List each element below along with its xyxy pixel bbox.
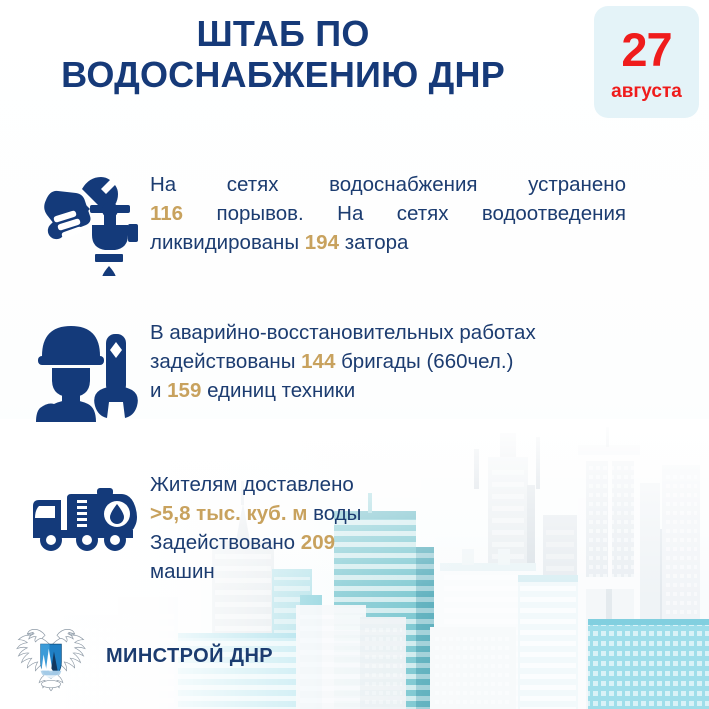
- fact-line: На сетях водоснабжения устранено: [150, 170, 626, 199]
- fact-text: Жителям доставлено >5,8 тыс. куб. м воды…: [150, 456, 510, 586]
- fact-line-text: затора: [345, 231, 409, 254]
- poster-header: ШТАБ ПО ВОДОСНАБЖЕНИЮ ДНР 27 августа: [0, 0, 709, 135]
- title-line-1: ШТАБ ПО: [0, 14, 566, 55]
- fact-line: и 159 единиц техники: [150, 376, 634, 405]
- fact-number: >5,8 тыс. куб. м: [150, 502, 307, 525]
- fact-icon-wrapper: [22, 308, 150, 422]
- page-title: ШТАБ ПО ВОДОСНАБЖЕНИЮ ДНР: [0, 14, 572, 95]
- fact-line-text: воды: [313, 502, 361, 525]
- fact-row: На сетях водоснабжения устранено 116 пор…: [0, 160, 709, 308]
- fact-line-text: порывов. На сетях водоотведения: [216, 202, 626, 225]
- fact-text: На сетях водоснабжения устранено 116 пор…: [150, 160, 642, 257]
- date-badge: 27 августа: [594, 6, 699, 118]
- facts-list: На сетях водоснабжения устранено 116 пор…: [0, 160, 709, 606]
- fact-row: Жителям доставлено >5,8 тыс. куб. м воды…: [0, 456, 709, 606]
- infographic-poster: ШТАБ ПО ВОДОСНАБЖЕНИЮ ДНР 27 августа: [0, 0, 709, 709]
- fact-text: В аварийно-восстановительных работах зад…: [150, 308, 650, 405]
- hand-wrench-faucet-icon: [32, 166, 140, 276]
- fact-line: ликвидированы 194 затора: [150, 228, 626, 257]
- fact-number: 116: [150, 202, 183, 225]
- title-line-2: ВОДОСНАБЖЕНИЮ ДНР: [0, 55, 566, 96]
- fact-line-text: ликвидированы: [150, 231, 299, 254]
- fact-line: >5,8 тыс. куб. м воды: [150, 499, 494, 528]
- fact-line: В аварийно-восстановительных работах: [150, 318, 634, 347]
- dnr-double-headed-eagle-emblem: [14, 619, 88, 693]
- fact-line-text: и: [150, 379, 161, 402]
- fact-line: Жителям доставлено: [150, 470, 494, 499]
- fact-number: 159: [167, 379, 201, 402]
- fact-number: 209: [301, 531, 335, 554]
- fact-number: 144: [301, 350, 335, 373]
- fact-line: 116 порывов. На сетях водоотведения: [150, 199, 626, 228]
- worker-wrench-icon: [34, 316, 138, 422]
- fact-icon-wrapper: [22, 160, 150, 276]
- ministry-name: МИНСТРОЙ ДНР: [106, 645, 273, 668]
- fact-line-text: бригады (660чел.): [341, 350, 513, 373]
- water-tanker-truck-icon: [31, 482, 141, 554]
- fact-line-text: единиц техники: [207, 379, 355, 402]
- fact-line: задействованы 144 бригады (660чел.): [150, 347, 634, 376]
- date-day: 27: [621, 26, 671, 73]
- fact-line: Задействовано 209: [150, 528, 494, 557]
- fact-line-text: Задействовано: [150, 531, 295, 554]
- fact-row: В аварийно-восстановительных работах зад…: [0, 308, 709, 456]
- fact-number: 194: [305, 231, 339, 254]
- date-month: августа: [611, 82, 682, 101]
- fact-line-text: задействованы: [150, 350, 295, 373]
- fact-line: машин: [150, 557, 494, 586]
- footer: МИНСТРОЙ ДНР: [14, 619, 273, 693]
- fact-icon-wrapper: [22, 456, 150, 554]
